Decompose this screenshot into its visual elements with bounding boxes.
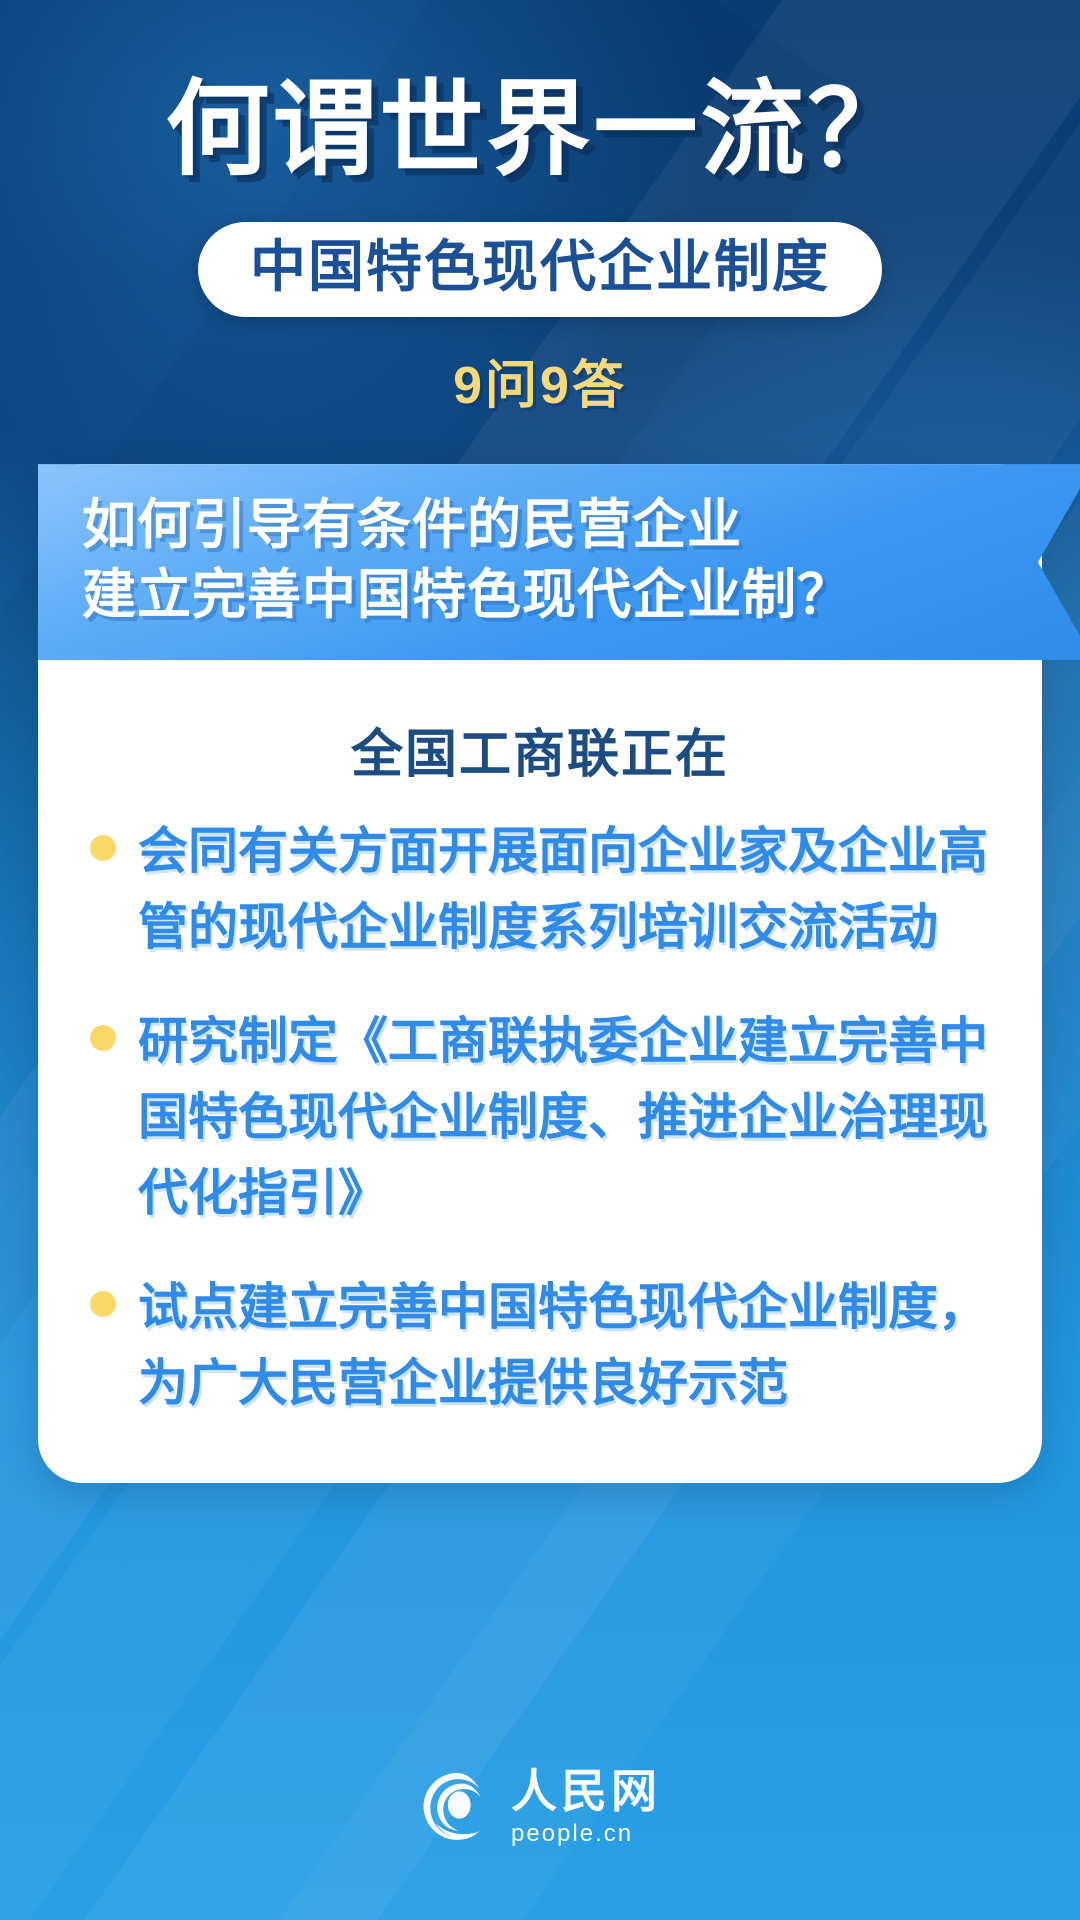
- logo-text-block: 人民网 people.cn: [511, 1769, 661, 1846]
- subtitle-text: 中国特色现代企业制度: [250, 238, 830, 297]
- answer-heading: 全国工商联正在: [84, 712, 996, 787]
- question-banner: 如何引导有条件的民营企业 建立完善中国特色现代企业制？: [38, 464, 1080, 660]
- list-item-text: 试点建立完善中国特色现代企业制度，为广大民营企业提供良好示范: [138, 1269, 996, 1421]
- list-item: 试点建立完善中国特色现代企业制度，为广大民营企业提供良好示范: [84, 1269, 996, 1421]
- list-item-text: 会同有关方面开展面向企业家及企业高管的现代企业制度系列培训交流活动: [138, 813, 996, 965]
- list-item: 研究制定《工商联执委企业建立完善中国特色现代企业制度、推进企业治理现代化指引》: [84, 1003, 996, 1231]
- bullet-dot-icon: [90, 1025, 116, 1051]
- poster-root: 何谓世界一流？ 中国特色现代企业制度 9问9答 如何引导有条件的民营企业 建立完…: [0, 0, 1080, 1920]
- question-line-1: 如何引导有条件的民营企业: [82, 490, 944, 560]
- content-card-wrapper: 如何引导有条件的民营企业 建立完善中国特色现代企业制？ 全国工商联正在 会同有关…: [38, 464, 1042, 1483]
- page-title: 何谓世界一流？: [0, 74, 1080, 186]
- people-cn-logo: 人民网 people.cn: [419, 1769, 661, 1846]
- logo-domain: people.cn: [511, 1822, 633, 1846]
- bullet-dot-icon: [90, 1291, 116, 1317]
- list-item-text: 研究制定《工商联执委企业建立完善中国特色现代企业制度、推进企业治理现代化指引》: [138, 1003, 996, 1231]
- bullet-dot-icon: [90, 835, 116, 861]
- answer-bullet-list: 会同有关方面开展面向企业家及企业高管的现代企业制度系列培训交流活动 研究制定《工…: [84, 813, 996, 1421]
- footer: 人民网 people.cn: [0, 1769, 1080, 1846]
- logo-chinese-name: 人民网: [511, 1769, 661, 1815]
- qa-count-badge: 9问9答: [0, 343, 1080, 418]
- card-body: 全国工商联正在 会同有关方面开展面向企业家及企业高管的现代企业制度系列培训交流活…: [38, 712, 1042, 1421]
- question-line-2: 建立完善中国特色现代企业制？: [82, 560, 944, 630]
- content-card: 如何引导有条件的民营企业 建立完善中国特色现代企业制？ 全国工商联正在 会同有关…: [38, 464, 1042, 1483]
- poster-header: 何谓世界一流？ 中国特色现代企业制度 9问9答: [0, 0, 1080, 418]
- subtitle-pill: 中国特色现代企业制度: [198, 222, 882, 317]
- list-item: 会同有关方面开展面向企业家及企业高管的现代企业制度系列培训交流活动: [84, 813, 996, 965]
- people-cn-globe-icon: [419, 1770, 495, 1846]
